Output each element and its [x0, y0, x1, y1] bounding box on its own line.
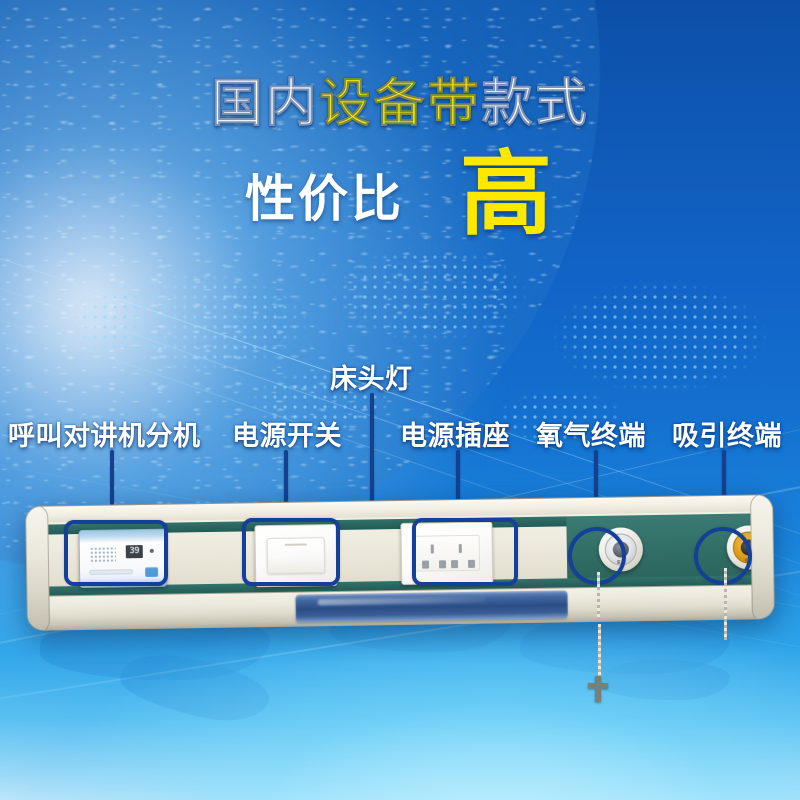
- intercom-call-button[interactable]: [145, 567, 158, 577]
- intercom-slot: [89, 569, 133, 575]
- nurse-call-intercom[interactable]: 39: [78, 529, 167, 588]
- callout-label-oxygen: 氧气终端: [536, 414, 646, 453]
- oxygen-pull-chain: [597, 572, 600, 620]
- callout-label-suction: 吸引终端: [672, 414, 782, 453]
- suction-pull-chain: [724, 568, 727, 640]
- oxygen-terminal-caption: 氧气: [599, 559, 643, 566]
- intercom-display: 39: [126, 545, 143, 558]
- equipment-hook-icon: [588, 676, 608, 702]
- bed-lamp-diffuser[interactable]: [295, 590, 567, 622]
- power-socket[interactable]: [400, 522, 493, 585]
- speaker-grille-icon: [90, 546, 116, 563]
- switch-rocker[interactable]: [267, 537, 326, 574]
- callout-label-bed-lamp: 床头灯: [330, 357, 413, 396]
- promo-banner: 国内设备带款式 性价比 高 呼叫对讲机分机 电源开关 床头灯 电源插座 氧气终端…: [0, 0, 800, 800]
- callout-label-intercom: 呼叫对讲机分机: [8, 414, 201, 453]
- status-led-icon: [150, 549, 154, 553]
- hanger-chain: [598, 624, 601, 682]
- oxygen-terminal[interactable]: 氧气: [598, 527, 643, 572]
- panel-end-cap-right: [750, 494, 775, 622]
- socket-face: [414, 535, 481, 572]
- power-switch[interactable]: [254, 524, 337, 587]
- callout-label-power-switch: 电源开关: [232, 414, 342, 453]
- callout-label-power-socket: 电源插座: [400, 414, 510, 453]
- bed-head-unit: 39: [25, 494, 775, 631]
- panel-body: 39: [25, 494, 775, 631]
- panel-end-cap-left: [25, 505, 50, 631]
